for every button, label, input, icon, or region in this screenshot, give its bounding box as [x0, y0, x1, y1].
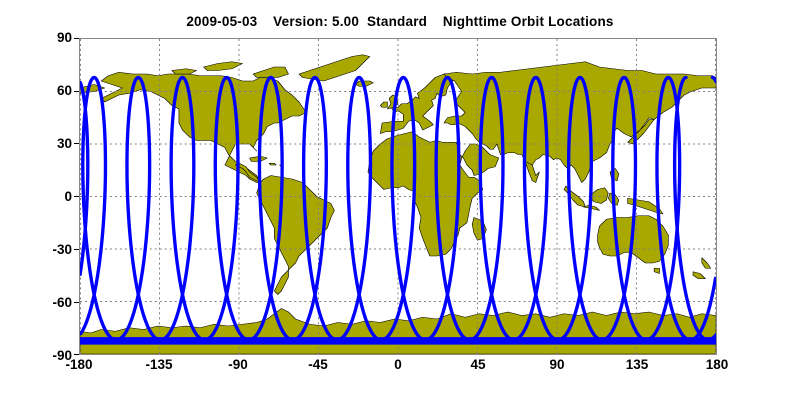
ytick-mark-n30: [74, 249, 79, 250]
orbit-track: [81, 78, 716, 341]
ytick-mark-60: [74, 91, 79, 92]
ytick-mark-n60: [74, 302, 79, 303]
xtick-label-n180: -180: [39, 358, 119, 372]
ytick-label-60: 60: [12, 84, 72, 98]
xtick-label-n45: -45: [278, 358, 358, 372]
xtick-label-90: 90: [517, 358, 597, 372]
ytick-label-n30: -30: [12, 243, 72, 257]
orbit-locations-figure: 2009-05-03 Version: 5.00 Standard Nightt…: [0, 0, 800, 400]
ytick-label-n60: -60: [12, 296, 72, 310]
xtick-label-0: 0: [358, 358, 438, 372]
page-title: 2009-05-03 Version: 5.00 Standard Nightt…: [0, 14, 800, 29]
xtick-label-n135: -135: [119, 358, 199, 372]
ytick-label-30: 30: [12, 137, 72, 151]
orbit-ground-tracks: [80, 39, 716, 354]
ytick-label-90: 90: [12, 31, 72, 45]
ytick-mark-n90: [74, 354, 79, 355]
xtick-label-180: 180: [677, 358, 757, 372]
xtick-label-n90: -90: [198, 358, 278, 372]
xtick-label-45: 45: [438, 358, 518, 372]
ytick-mark-90: [74, 38, 79, 39]
ytick-mark-0: [74, 196, 79, 197]
map-plot-area: [79, 38, 717, 355]
orbit-track: [80, 78, 716, 341]
ytick-mark-30: [74, 143, 79, 144]
ytick-label-0: 0: [12, 190, 72, 204]
xtick-label-135: 135: [597, 358, 677, 372]
